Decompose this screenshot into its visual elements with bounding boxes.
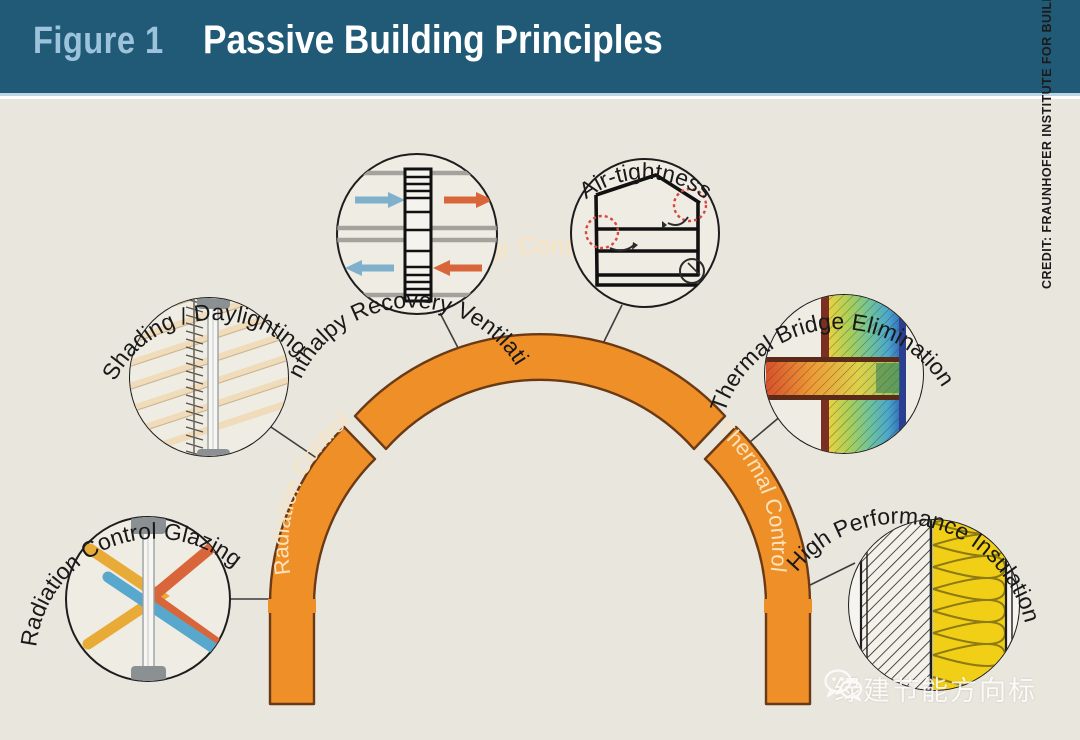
arch-join-right	[764, 599, 812, 613]
arch-segment-radiation-control-leg	[270, 605, 314, 704]
diagram-svg: Air Control Radiation Control Thermal Co…	[0, 99, 1080, 740]
header-title-group: Figure 1 Passive Building Principles	[33, 18, 725, 63]
diagram-stage: Air Control Radiation Control Thermal Co…	[0, 99, 1080, 740]
credit-line: CREDIT: FRAUNHOFER INSTITUTE FOR BUILDIN…	[1040, 0, 1054, 289]
node-radiation-control-glazing[interactable]: Radiation Control Glazing	[15, 516, 247, 684]
node-high-performance-insulation[interactable]: High Performance Insulation	[781, 502, 1045, 695]
figure-header: Figure 1 Passive Building Principles	[0, 0, 1080, 96]
figure-root: Figure 1 Passive Building Principles	[0, 0, 1080, 740]
figure-title: Passive Building Principles	[203, 18, 663, 63]
icon-window-louver-sunrays	[110, 264, 292, 466]
node-shading-daylighting[interactable]: Shading / Daylighting	[96, 264, 313, 466]
node-air-tightness[interactable]: Air-tightness	[571, 158, 719, 307]
arch-segment-thermal-control-leg	[766, 605, 810, 704]
diagram-canvas: Air Control Radiation Control Thermal Co…	[0, 99, 1080, 740]
arch-segment-air-control[interactable]	[355, 334, 725, 449]
arch-join-left	[268, 599, 316, 613]
figure-number-label: Figure 1	[33, 20, 164, 63]
